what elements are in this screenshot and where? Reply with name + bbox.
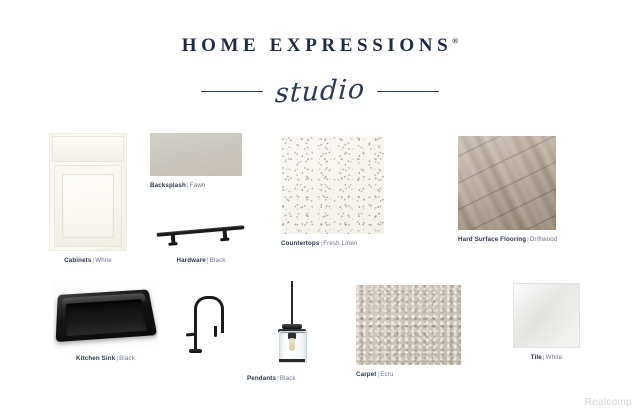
- cabinets-swatch-image: [49, 133, 127, 251]
- tile-swatch-image: [513, 283, 580, 348]
- rule-left: [201, 91, 263, 93]
- pendants-swatch-image: [269, 281, 315, 369]
- cabinets-value: White: [95, 257, 112, 264]
- sink-basin-interior: [65, 299, 147, 336]
- faucet-column: [194, 328, 198, 351]
- bar-pull-rod: [156, 225, 244, 237]
- selection-kitchen-sink: Kitchen Sink|Black: [53, 281, 158, 362]
- floor-shading-overlay: [458, 136, 556, 230]
- hardware-category: Hardware: [176, 257, 205, 264]
- carpet-value: Ecru: [380, 371, 393, 378]
- brand-logo: HOME EXPRESSIONS®: [0, 36, 640, 56]
- pendants-value: Black: [280, 375, 296, 382]
- carpet-category: Carpet: [356, 371, 377, 378]
- hard-surface-flooring-category: Hard Surface Flooring: [458, 236, 526, 243]
- selection-pendants: Pendants|Black: [269, 281, 315, 382]
- kitchen-faucet-image: [182, 288, 234, 360]
- cabinets-category: Cabinets: [64, 257, 91, 264]
- pendant-rod: [291, 281, 293, 325]
- carpet-swatch-image: [356, 285, 461, 365]
- selection-hardware: Hardware|Black: [155, 218, 247, 264]
- cabinets-label: Cabinets|White: [49, 257, 127, 264]
- rule-right: [377, 91, 439, 93]
- selection-carpet: Carpet|Ecru: [356, 285, 461, 378]
- hardware-label: Hardware|Black: [155, 257, 247, 264]
- hardware-value: Black: [210, 257, 226, 264]
- backsplash-swatch-image: [150, 133, 242, 176]
- kitchen-sink-category: Kitchen Sink: [76, 355, 115, 362]
- brand-title-text: HOME EXPRESSIONS: [182, 35, 453, 56]
- bar-pull-icon: [156, 222, 246, 252]
- pendant-bulb: [289, 338, 295, 351]
- design-selections-board: HOME EXPRESSIONS® studio Cabinets|White …: [0, 0, 640, 413]
- faucet-spout: [214, 326, 217, 337]
- tile-label: Tile|White: [513, 354, 580, 361]
- cabinet-panel-inner: [62, 174, 114, 238]
- hard-surface-flooring-label: Hard Surface Flooring|Driftwood: [458, 236, 598, 243]
- brand-title: HOME EXPRESSIONS®: [182, 36, 459, 55]
- backsplash-category: Backsplash: [150, 182, 186, 189]
- tile-value: White: [546, 354, 563, 361]
- selection-hard-surface-flooring: Hard Surface Flooring|Driftwood: [458, 136, 598, 243]
- hard-surface-flooring-swatch-image: [458, 136, 556, 230]
- countertops-swatch-image: [281, 136, 384, 234]
- pendants-category: Pendants: [247, 375, 276, 382]
- hard-surface-flooring-value: Driftwood: [530, 236, 557, 243]
- bar-pull-foot-left: [168, 242, 177, 245]
- faucet-base: [189, 349, 202, 353]
- faucet-gooseneck-arc: [194, 296, 224, 333]
- studio-script-word: studio: [272, 73, 368, 109]
- backsplash-label: Backsplash|Fawn: [150, 182, 242, 189]
- kitchen-sink-value: Black: [119, 355, 135, 362]
- kitchen-sink-label: Kitchen Sink|Black: [53, 355, 158, 362]
- hardware-swatch-image: [155, 218, 247, 254]
- countertops-category: Countertops: [281, 240, 319, 247]
- backsplash-value: Fawn: [190, 182, 206, 189]
- cabinet-drawer-front: [52, 136, 124, 162]
- tile-category: Tile: [531, 354, 542, 361]
- selection-tile: Tile|White: [513, 283, 580, 361]
- pendant-bottom-ring: [279, 359, 305, 362]
- realcomp-watermark: Realcomp: [585, 397, 632, 408]
- selection-countertops: Countertops|Fresh Linen: [281, 136, 384, 247]
- kitchen-sink-swatch-image: [53, 281, 158, 349]
- studio-script-row: studio: [0, 76, 640, 107]
- faucet-swatch-image: [182, 288, 234, 360]
- countertops-value: Fresh Linen: [323, 240, 357, 247]
- selection-backsplash: Backsplash|Fawn: [150, 133, 242, 189]
- selection-cabinets: Cabinets|White: [49, 133, 127, 264]
- sink-basin-body: [56, 289, 158, 342]
- carpet-label: Carpet|Ecru: [356, 371, 461, 378]
- countertops-label: Countertops|Fresh Linen: [281, 240, 384, 247]
- cabinet-panel-outer: [54, 165, 122, 247]
- registered-trademark-icon: ®: [452, 37, 458, 46]
- pendants-label: Pendants|Black: [247, 375, 293, 382]
- bar-pull-foot-right: [220, 238, 229, 241]
